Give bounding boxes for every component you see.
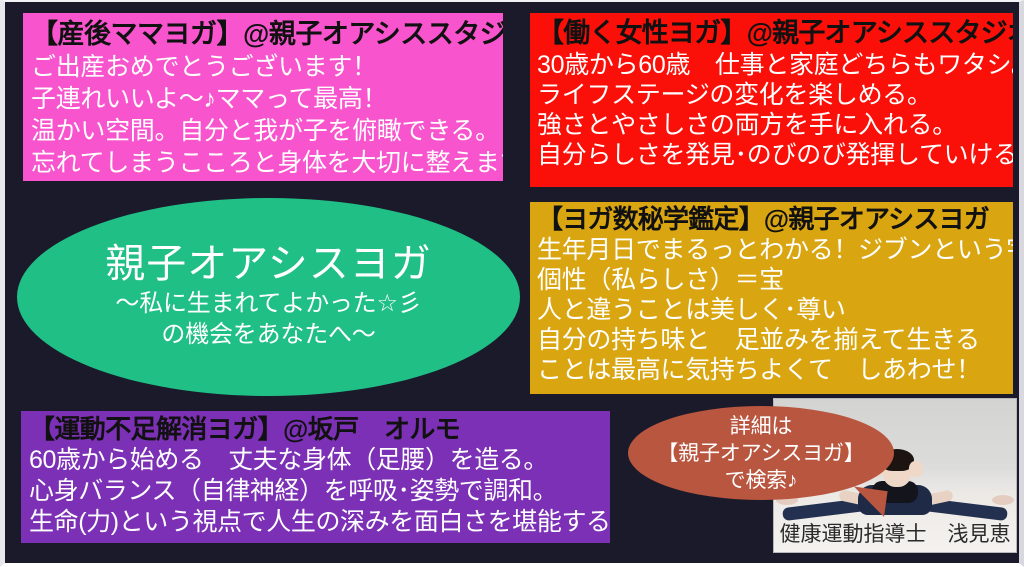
panel-yoga-numerology: 【ヨガ数秘学鑑定】@親子オアシスヨガ 生年月日でまるっとわかる！ジブンという宇宙… [530, 202, 1013, 394]
brand-subtitle-line-2: の機会をあなたへ〜 [161, 319, 375, 350]
panel-postpartum-line-2: 子連れいいよ〜♪ママって最高！ [31, 83, 503, 115]
panel-working-women-line-4: 自分らしさを発見･のびのび発揮していける！ [537, 140, 1013, 170]
brand-title: 親子オアシスヨガ [105, 240, 431, 288]
panel-numerology-line-1: 生年月日でまるっとわかる！ジブンという宇宙 [537, 235, 1013, 265]
panel-exercise-line-2: 心身バランス（自律神経）を呼吸･姿勢で調和。 [29, 476, 610, 507]
panel-postpartum-line-1: ご出産おめでとうございます！ [31, 51, 503, 83]
panel-postpartum-line-3: 温かい空間。自分と我が子を俯瞰できる。 [31, 115, 503, 147]
photo-caption: 健康運動指導士 浅見恵 [774, 518, 1016, 548]
panel-postpartum-yoga: 【産後ママヨガ】@親子オアシススタジオ ご出産おめでとうございます！ 子連れいい… [23, 13, 503, 181]
panel-exercise-headline: 【運動不足解消ヨガ】@坂戸 オルモ [29, 413, 610, 445]
panel-exercise-yoga: 【運動不足解消ヨガ】@坂戸 オルモ 60歳から始める 丈夫な身体（足腰）を造る。… [21, 411, 610, 543]
speech-bubble-line-1: 詳細は [730, 413, 792, 440]
panel-exercise-line-1: 60歳から始める 丈夫な身体（足腰）を造る。 [29, 445, 610, 476]
panel-numerology-line-5: ことは最高に気持ちよくて しあわせ！ [537, 355, 1013, 385]
brand-ellipse: 親子オアシスヨガ 〜私に生まれてよかった☆彡 の機会をあなたへ〜 [17, 198, 520, 396]
panel-numerology-line-4: 自分の持ち味と 足並みを揃えて生きる [537, 325, 1013, 355]
speech-bubble-line-2: 【親子オアシスヨガ】 [657, 440, 864, 467]
panel-working-women-line-2: ライフステージの変化を楽しめる。 [537, 80, 1013, 110]
yoga-pose-right-hand [909, 461, 923, 477]
yoga-pose-right-foot [992, 495, 1014, 505]
slide-canvas: 【産後ママヨガ】@親子オアシススタジオ ご出産おめでとうございます！ 子連れいい… [0, 0, 1024, 567]
panel-working-women-headline: 【働く女性ヨガ】@親子オアシススタジオ [537, 17, 1013, 50]
panel-numerology-headline: 【ヨガ数秘学鑑定】@親子オアシスヨガ [537, 203, 1013, 235]
panel-numerology-line-3: 人と違うことは美しく･尊い [537, 295, 1013, 325]
panel-exercise-line-3: 生命(力)という視点で人生の深みを面白さを堪能する。 [29, 507, 610, 538]
panel-working-women-yoga: 【働く女性ヨガ】@親子オアシススタジオ 30歳から60歳 仕事と家庭どちらもワタ… [530, 13, 1013, 187]
search-speech-bubble: 詳細は 【親子オアシスヨガ】 で検索♪ [628, 406, 894, 500]
speech-bubble-body: 詳細は 【親子オアシスヨガ】 で検索♪ [628, 406, 894, 500]
panel-working-women-line-3: 強さとやさしさの両方を手に入れる。 [537, 110, 1013, 140]
panel-postpartum-headline: 【産後ママヨガ】@親子オアシススタジオ [31, 18, 503, 51]
brand-subtitle-line-1: 〜私に生まれてよかった☆彡 [115, 288, 421, 319]
panel-working-women-line-1: 30歳から60歳 仕事と家庭どちらもワタシ。 [537, 50, 1013, 80]
panel-postpartum-line-4: 忘れてしまうこころと身体を大切に整えます。 [31, 147, 503, 179]
speech-bubble-line-3: で検索♪ [725, 467, 798, 494]
panel-numerology-line-2: 個性（私らしさ）＝宝 [537, 265, 1013, 295]
